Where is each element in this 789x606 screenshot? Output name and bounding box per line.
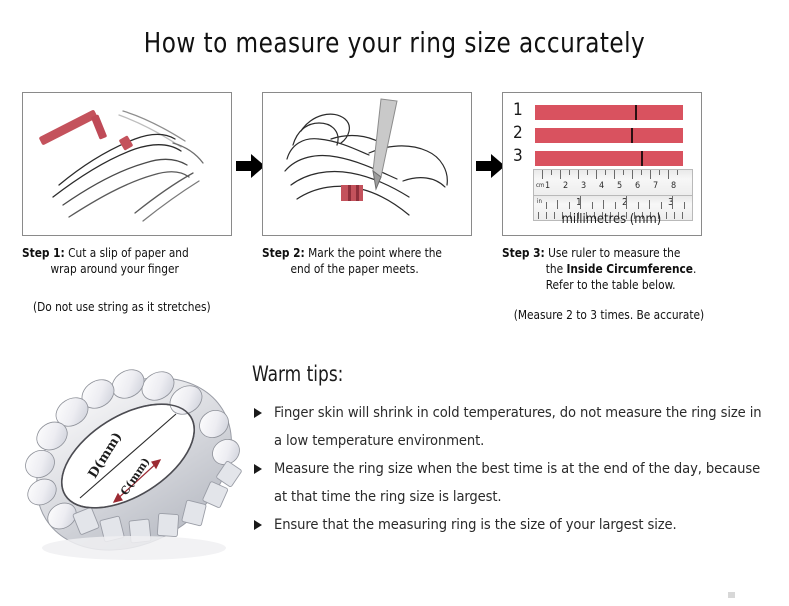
- pencil: [373, 99, 397, 189]
- step-3-lead: Step 3:: [502, 245, 545, 260]
- tip-item-2: Measure the ring size when the best time…: [252, 455, 772, 511]
- strip-1-tick: [635, 105, 637, 120]
- ring-diagram: D(mm) C(mm): [18, 352, 250, 564]
- ruler-cm-label-4: 4: [599, 181, 604, 191]
- step-3-line2-text: the: [546, 261, 567, 276]
- ruler-cm-label-6: 6: [635, 181, 640, 191]
- step-1-note: (Do not use string as it stretches): [27, 299, 227, 314]
- bullet-triangle-icon: [254, 520, 262, 530]
- step-2-caption: Step 2: Mark the point where the end of …: [262, 245, 462, 277]
- step-3-line1: Use ruler to measure the: [548, 245, 680, 260]
- bullet-triangle-icon: [254, 408, 262, 418]
- strip-1-bar: [535, 105, 683, 120]
- step-3-line2: the Inside Circumference.: [502, 261, 730, 277]
- step-1-column: Step 1: Cut a slip of paper and wrap aro…: [22, 92, 232, 314]
- step-3-illustration: 1 2 3: [502, 92, 702, 236]
- step-1-line2: wrap around your finger: [22, 261, 222, 277]
- measure-strip-3: 3: [513, 151, 691, 166]
- measure-strip-2: 2: [513, 128, 691, 143]
- hand-paper-slip-drawing: [23, 93, 231, 235]
- ruler-cm-label-3: 3: [581, 181, 586, 191]
- eternity-ring-illustration: [18, 352, 250, 564]
- tip-text-1: Finger skin will shrink in cold temperat…: [274, 404, 762, 449]
- step-2-line2: end of the paper meets.: [262, 261, 462, 277]
- hand-pencil-mark-drawing: [263, 93, 471, 235]
- step-3-line3: Refer to the table below.: [502, 277, 730, 293]
- warm-tips-section: Warm tips: Finger skin will shrink in co…: [252, 362, 772, 539]
- step-3-line2-tail: .: [693, 261, 696, 276]
- step-2-column: Step 2: Mark the point where the end of …: [262, 92, 472, 277]
- step-3-column: 1 2 3: [502, 92, 742, 322]
- step-3-note: (Measure 2 to 3 times. Be accurate): [508, 307, 736, 322]
- step-2-illustration: [262, 92, 472, 236]
- ruler-inch-unit: in: [537, 198, 542, 205]
- ruler-cm-label-8: 8: [671, 181, 676, 191]
- step-1-lead: Step 1:: [22, 245, 65, 260]
- ruler-centimetre-scale: cm 1 2 3 4 5 6 7 8: [533, 169, 693, 197]
- ruler-cm-label-5: 5: [617, 181, 622, 191]
- tip-item-1: Finger skin will shrink in cold temperat…: [252, 399, 772, 455]
- step-2-line1: Mark the point where the: [308, 245, 442, 260]
- corner-artifact: [728, 592, 735, 598]
- strip-2-bar: [535, 128, 683, 143]
- step-2-lead: Step 2:: [262, 245, 305, 260]
- strip-3-number: 3: [513, 147, 529, 166]
- ruler-cm-unit: cm: [536, 182, 544, 189]
- step-1-caption: Step 1: Cut a slip of paper and wrap aro…: [22, 245, 222, 277]
- ruler-cm-label-1: 1: [545, 181, 550, 191]
- ruler-cm-label-7: 7: [653, 181, 658, 191]
- page-title: How to measure your ring size accurately: [32, 26, 758, 59]
- strip-3-bar: [535, 151, 683, 166]
- ruler-unit-caption: millimetres (mm): [562, 211, 662, 227]
- measure-strip-1: 1: [513, 105, 691, 120]
- step-3-caption: Step 3: Use ruler to measure the the Ins…: [502, 245, 730, 293]
- strip-2-tick: [631, 128, 633, 143]
- step-1-illustration: [22, 92, 232, 236]
- ruler-cm-label-2: 2: [563, 181, 568, 191]
- bullet-triangle-icon: [254, 464, 262, 474]
- tip-text-2: Measure the ring size when the best time…: [274, 460, 760, 505]
- strip-2-number: 2: [513, 124, 529, 143]
- strip-1-number: 1: [513, 101, 529, 120]
- steps-row: Step 1: Cut a slip of paper and wrap aro…: [0, 92, 789, 342]
- step-1-line1: Cut a slip of paper and: [68, 245, 189, 260]
- paper-band-red: [341, 185, 363, 201]
- strip-3-tick: [641, 151, 643, 166]
- step-3-inside-circumference: Inside Circumference: [566, 261, 693, 276]
- tip-text-3: Ensure that the measuring ring is the si…: [274, 516, 677, 533]
- warm-tips-heading: Warm tips:: [252, 362, 720, 386]
- tip-item-3: Ensure that the measuring ring is the si…: [252, 511, 772, 539]
